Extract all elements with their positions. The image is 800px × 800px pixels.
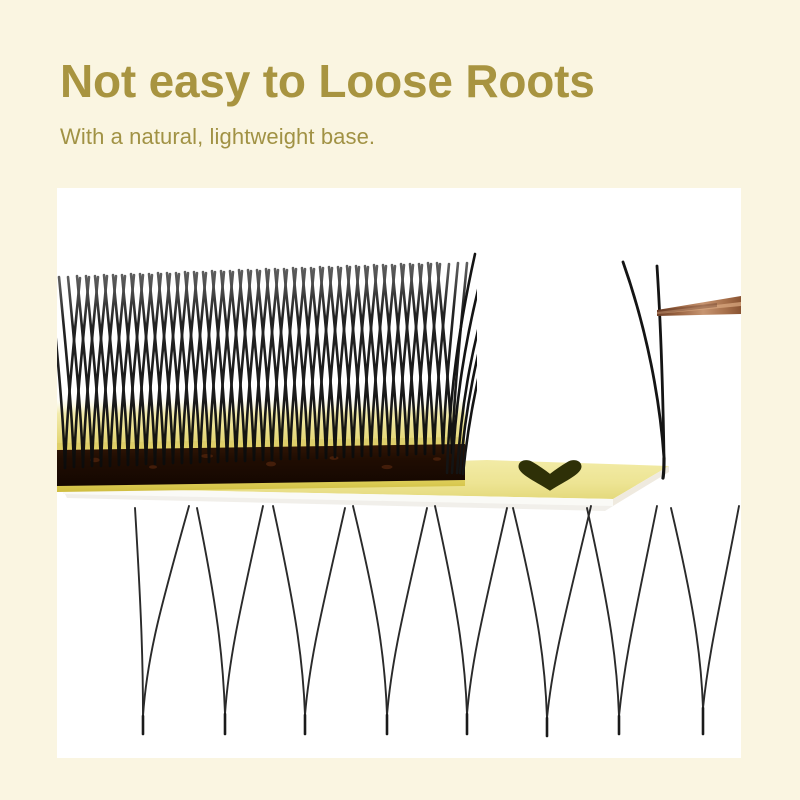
- product-photo: [57, 188, 741, 758]
- page-title: Not easy to Loose Roots: [60, 58, 760, 104]
- page-subtitle: With a natural, lightweight base.: [60, 104, 760, 150]
- headline-block: Not easy to Loose Roots With a natural, …: [60, 58, 760, 150]
- product-feature-page: Not easy to Loose Roots With a natural, …: [0, 0, 800, 800]
- product-photo-panel: [57, 188, 741, 758]
